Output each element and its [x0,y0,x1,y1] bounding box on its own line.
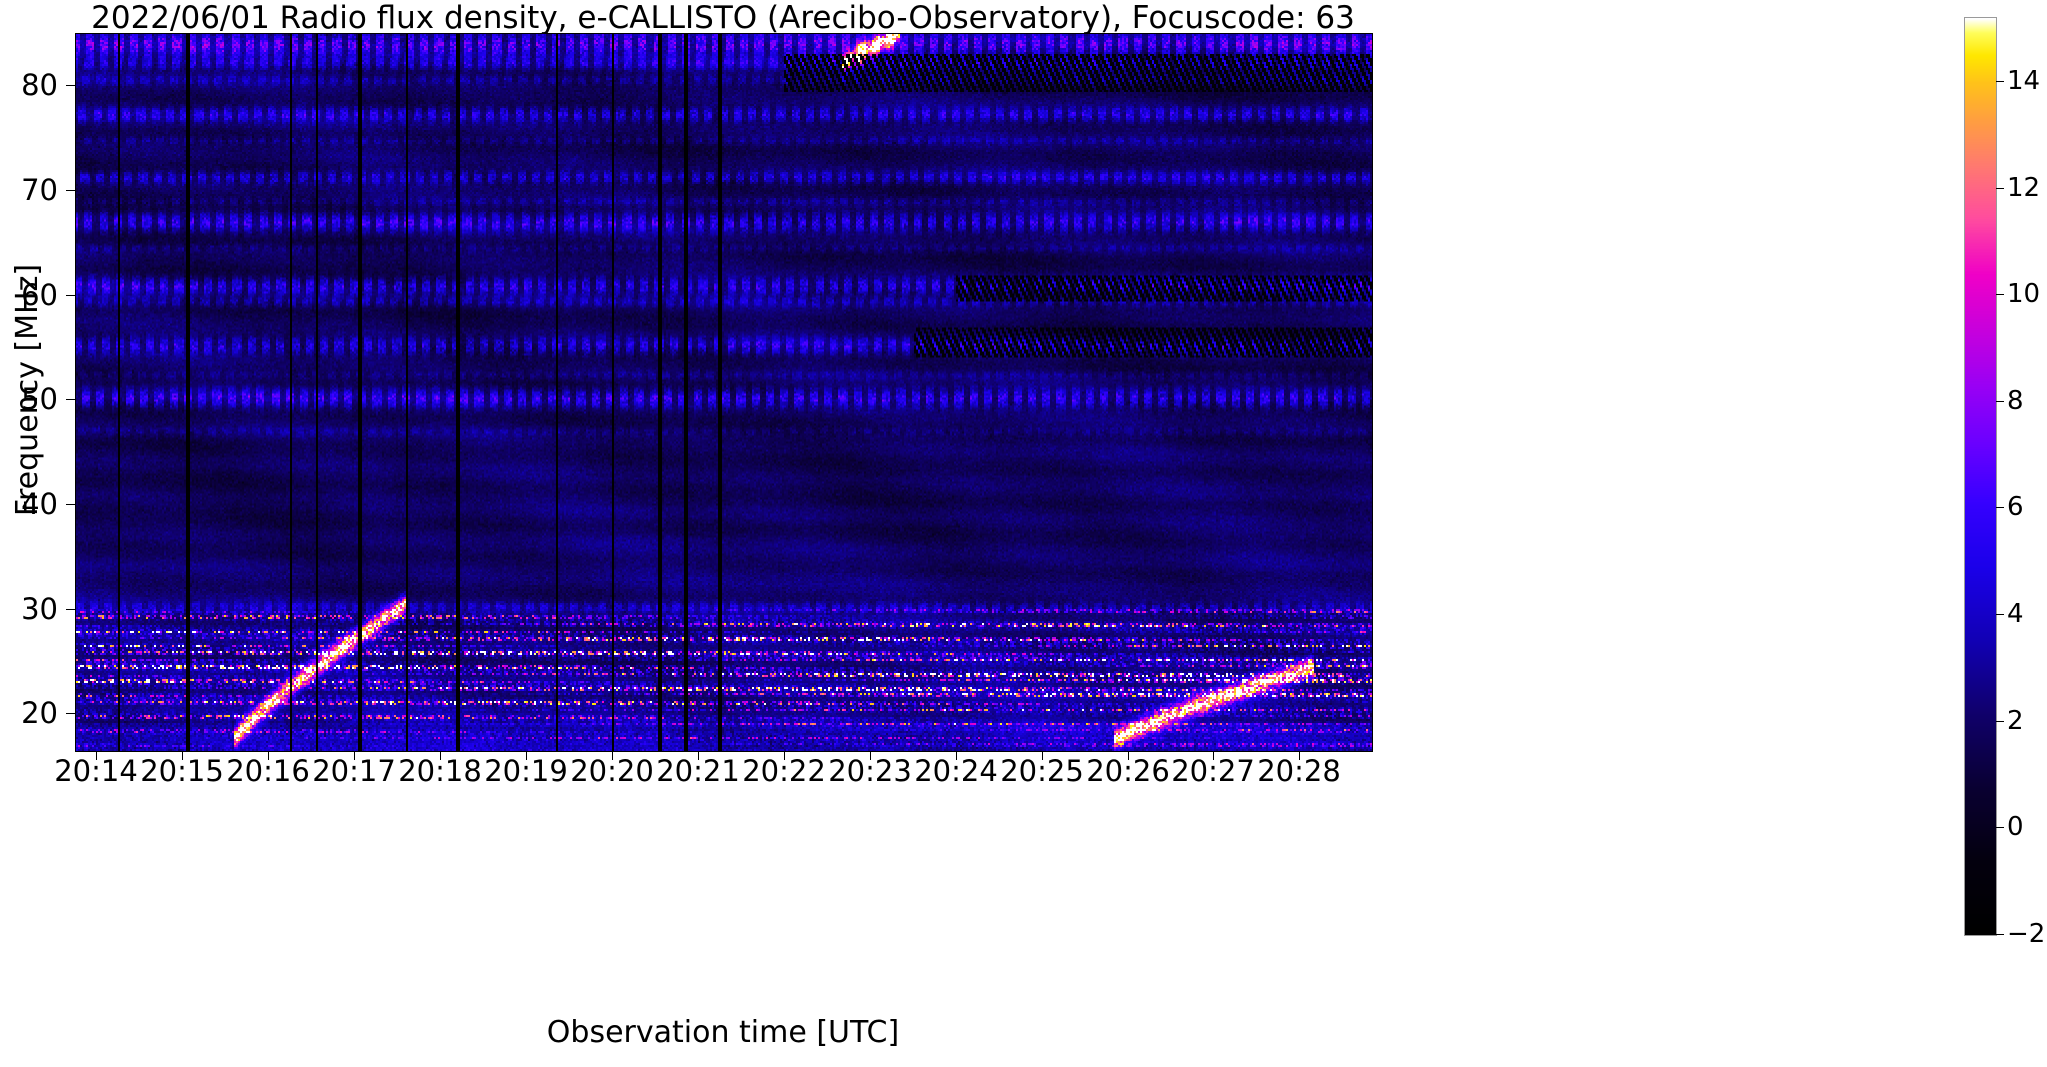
y-tick-mark [66,85,75,86]
y-tick-mark [66,504,75,505]
colorbar-tick-label: 0 [2007,814,2024,840]
y-tick-label: 50 [10,385,58,414]
colorbar-tick-mark [1996,827,2004,828]
spectrogram-axes[interactable] [75,33,1373,752]
colorbar-tick-label: 6 [2007,494,2024,520]
colorbar-gradient [1965,18,1996,935]
colorbar-tick-mark [1996,614,2004,615]
figure-canvas: 2022/06/01 Radio flux density, e-CALLIST… [0,0,2047,1067]
colorbar-tick-label: 10 [2007,281,2040,307]
colorbar-tick-label: 12 [2007,175,2040,201]
chart-title: 2022/06/01 Radio flux density, e-CALLIST… [75,2,1371,34]
colorbar-tick-mark [1996,401,2004,402]
colorbar-tick-mark [1996,721,2004,722]
y-tick-label: 80 [10,71,58,100]
y-tick-label: 30 [10,595,58,624]
y-tick-mark [66,190,75,191]
y-tick-mark [66,399,75,400]
x-tick-label: 20:28 [1239,757,1359,786]
y-tick-mark [66,295,75,296]
y-tick-label: 20 [10,699,58,728]
colorbar-tick-label: 8 [2007,388,2024,414]
colorbar[interactable] [1964,17,1997,936]
y-tick-mark [66,609,75,610]
colorbar-tick-label: 2 [2007,708,2024,734]
colorbar-tick-mark [1996,81,2004,82]
colorbar-tick-label: 4 [2007,601,2024,627]
y-tick-label: 70 [10,176,58,205]
x-axis-label: Observation time [UTC] [75,1017,1371,1049]
colorbar-tick-label: 14 [2007,68,2040,94]
y-tick-mark [66,713,75,714]
colorbar-tick-mark [1996,294,2004,295]
y-tick-label: 40 [10,490,58,519]
colorbar-tick-mark [1996,934,2004,935]
colorbar-tick-mark [1996,507,2004,508]
colorbar-tick-label: −2 [2007,921,2045,947]
colorbar-tick-mark [1996,188,2004,189]
y-tick-label: 60 [10,281,58,310]
spectrogram-image[interactable] [76,34,1372,751]
